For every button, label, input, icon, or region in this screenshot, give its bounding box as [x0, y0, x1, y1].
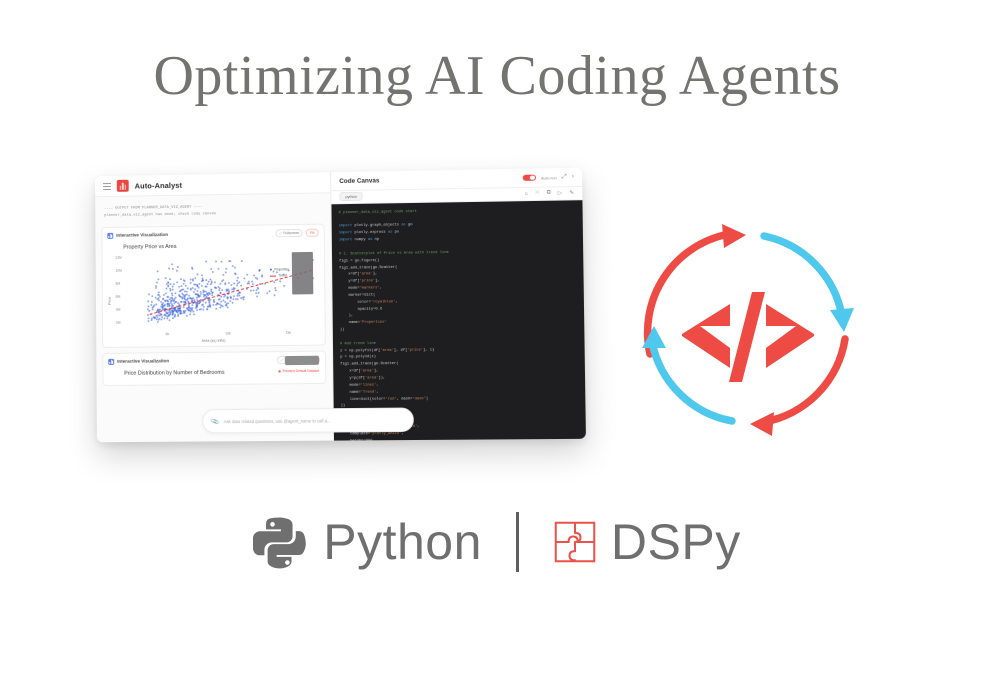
y-tick-5: 2M — [116, 320, 121, 324]
tab-python[interactable]: python — [339, 192, 363, 201]
viz-card-1-header: Interactive Visualization ⤢ Fullscreen F… — [107, 228, 318, 239]
chart-icon — [107, 232, 113, 238]
page-title: Optimizing AI Coding Agents — [0, 44, 994, 108]
visualization-card-2: Interactive Visualization ⤢ Fullscreen F… — [102, 350, 326, 385]
code-editor[interactable]: # planner_data_viz_agent code start impo… — [331, 200, 586, 441]
loop-arc-bottom-right — [750, 339, 845, 436]
expand-icon: ⤢ — [279, 231, 282, 235]
preview-default-dataset-link[interactable]: ◉ Preview Default Dataset — [278, 368, 319, 372]
dspy-label: DSPy — [611, 513, 741, 571]
dspy-logo: DSPy — [553, 513, 741, 571]
hamburger-menu-icon[interactable] — [103, 183, 111, 190]
app-brand-name: Auto-Analyst — [135, 180, 183, 190]
dspy-puzzle-icon — [553, 520, 597, 564]
lock-icon[interactable]: ⌂ — [524, 191, 527, 197]
info-icon: ◉ — [278, 369, 281, 373]
python-logo: Python — [253, 513, 482, 571]
plotly-modebar[interactable] — [292, 252, 314, 295]
x-tick-1: 10k — [225, 331, 230, 335]
fullscreen-label-1: Fullscreen — [283, 231, 299, 235]
shuffle-icon[interactable]: ⤫ — [535, 190, 540, 197]
agent-output-block: ---- OUTPUT FROM PLANNER_DATA_VIZ_AGENT … — [95, 193, 330, 220]
chat-pane: Auto-Analyst ---- OUTPUT FROM PLANNER_DA… — [95, 172, 334, 442]
autorun-label: Auto-run — [541, 175, 557, 180]
y-tick-4: 4M — [116, 307, 121, 311]
code-glyph — [682, 292, 814, 382]
code-loop-icon — [624, 208, 872, 444]
y-axis-label: Price — [108, 296, 112, 304]
chat-input-placeholder: Ask data related questions, use @agent_n… — [224, 418, 331, 424]
x-tick-2: 15k — [286, 330, 291, 334]
chat-input-bar[interactable]: 📎 Ask data related questions, use @agent… — [202, 407, 414, 433]
logo-row: Python DSPy — [0, 512, 994, 572]
viz-card-2-title: Interactive Visualization — [117, 358, 169, 364]
logo-divider — [516, 512, 519, 572]
viz-card-1-title: Interactive Visualization — [116, 232, 168, 238]
run-icon[interactable]: ▷ — [558, 190, 562, 196]
x-tick-0: 5k — [166, 332, 170, 336]
auto-analyst-logo-icon — [117, 180, 129, 192]
legend-item-trend: Trend — [270, 273, 289, 280]
scatter-plot[interactable]: Price 12M 10M 8M 6M 4M 2M Properties Tre… — [107, 249, 319, 344]
visualization-card-1: Interactive Visualization ⤢ Fullscreen F… — [101, 223, 326, 347]
close-icon[interactable]: › — [572, 174, 574, 180]
python-icon — [253, 514, 309, 570]
python-label: Python — [323, 513, 482, 571]
y-tick-0: 12M — [115, 255, 121, 259]
y-tick-2: 8M — [116, 281, 121, 285]
attachment-icon[interactable]: 📎 — [210, 416, 220, 426]
preview-link-label: Preview Default Dataset — [283, 368, 320, 372]
code-canvas-pane: Code Canvas Auto-run ⤢ › python ⌂ ⤫ ⧉ ▷ … — [331, 168, 586, 441]
plot-toolbar-overlay — [285, 355, 319, 364]
chart-icon-2 — [108, 358, 114, 364]
fullscreen-button-1[interactable]: ⤢ Fullscreen — [275, 229, 303, 237]
expand-icon[interactable]: ⤢ — [562, 174, 567, 181]
chart-legend: Properties Trend — [270, 266, 289, 280]
app-screenshot-mock: Auto-Analyst ---- OUTPUT FROM PLANNER_DA… — [96, 176, 580, 442]
y-tick-1: 10M — [115, 268, 121, 272]
fix-button-1[interactable]: Fix — [306, 228, 319, 236]
y-tick-3: 6M — [116, 294, 121, 298]
autorun-toggle[interactable] — [523, 174, 536, 181]
x-axis-label: Area (sq units) — [108, 337, 320, 343]
copy-icon[interactable]: ⧉ — [547, 190, 551, 197]
edit-icon[interactable]: ✎ — [569, 190, 574, 196]
code-canvas-title: Code Canvas — [339, 177, 379, 185]
expand-icon-2: ⤢ — [281, 358, 284, 362]
